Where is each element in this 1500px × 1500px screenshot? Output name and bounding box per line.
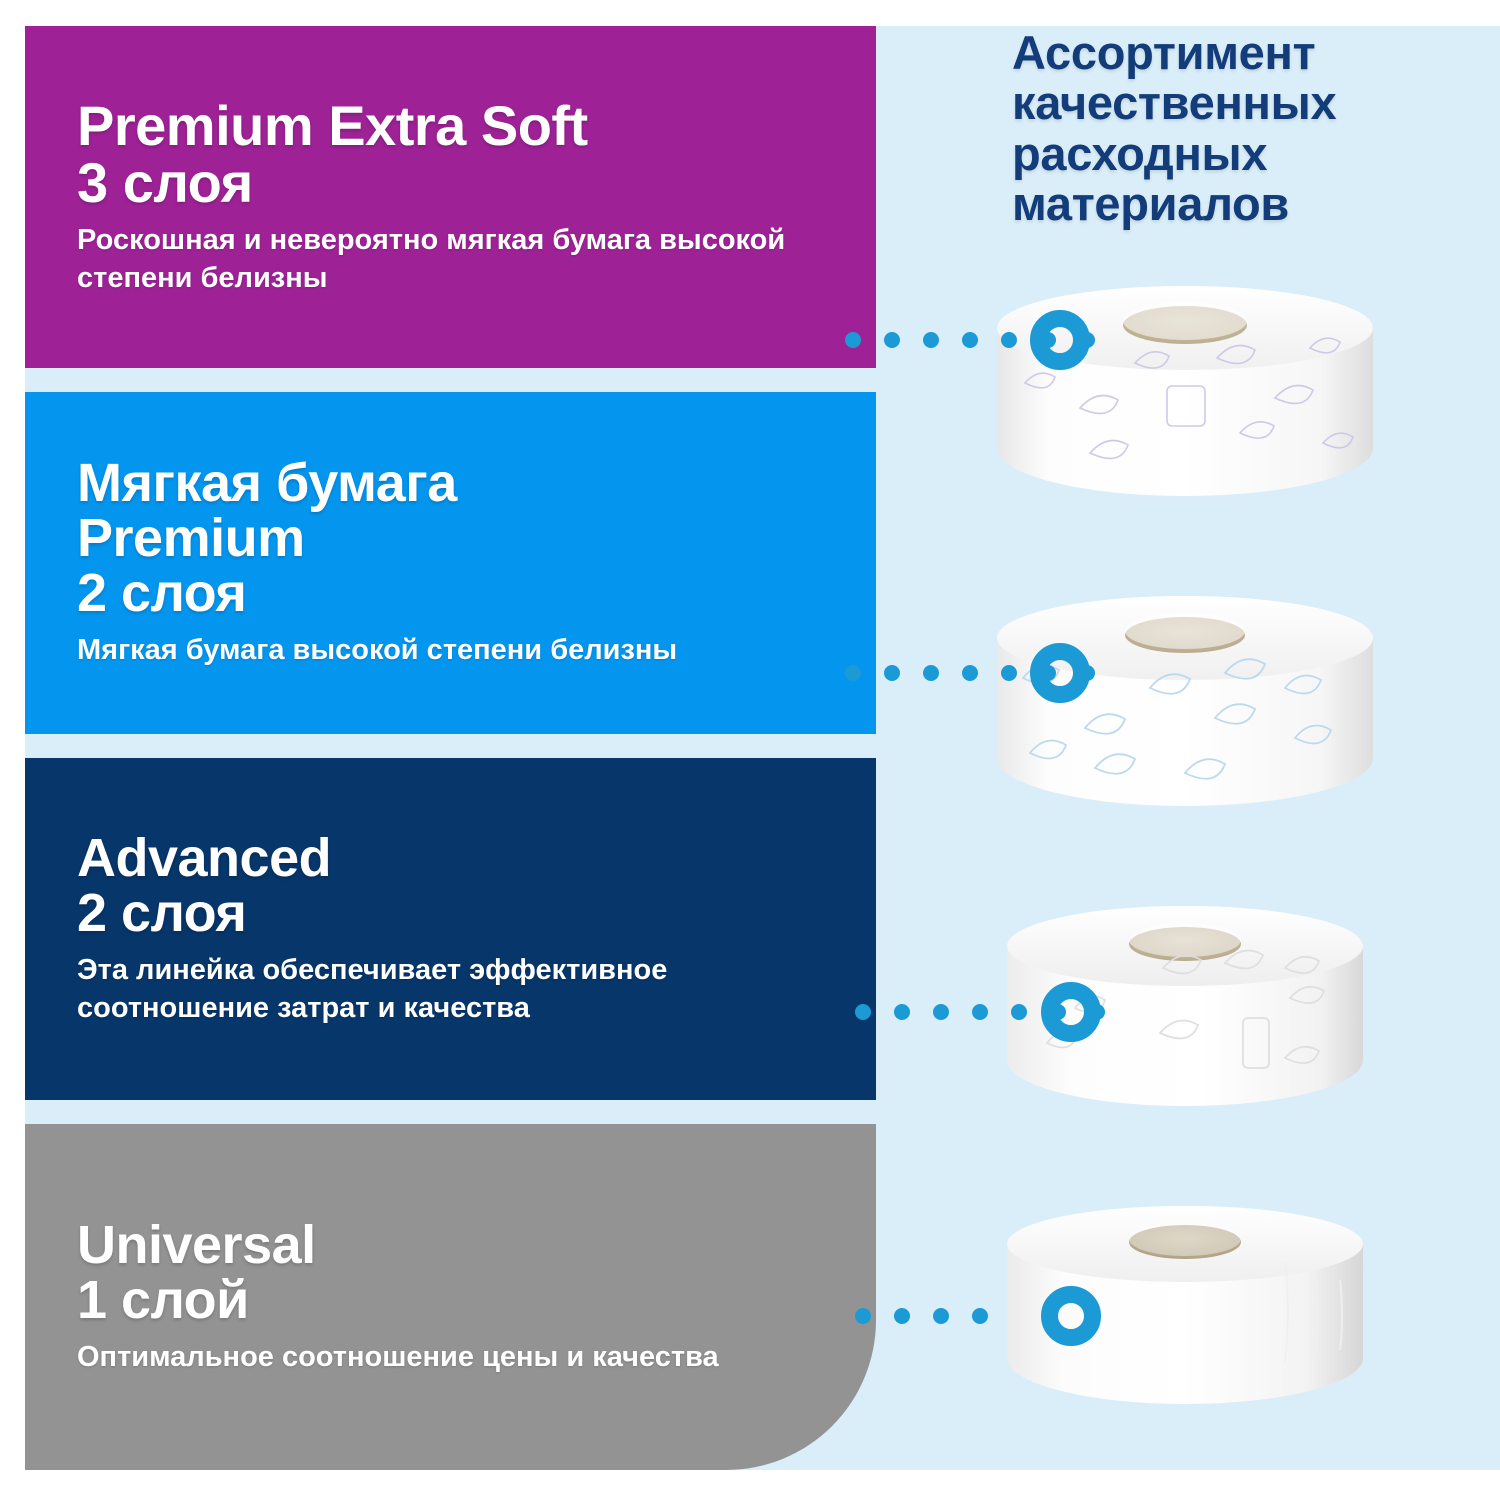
page-title-line3: расходных: [1012, 129, 1482, 179]
product-panel-premium-extra-soft[interactable]: Premium Extra Soft 3 слоя Роскошная и не…: [25, 26, 876, 368]
panel-title: Premium Extra Soft 3 слоя: [77, 97, 876, 211]
highlight-ring-icon-4: [1041, 1286, 1101, 1346]
connector-dot: [894, 1308, 910, 1324]
connector-dot: [845, 332, 861, 348]
highlight-ring-icon-2: [1030, 643, 1090, 703]
connector-dot: [1011, 1004, 1027, 1020]
connector-dot: [845, 665, 861, 681]
panel-title-line1: Advanced: [77, 831, 876, 886]
highlight-ring-icon-3: [1041, 982, 1101, 1042]
panel-title: Мягкая бумага Premium 2 слоя: [77, 456, 876, 621]
connector-dot: [962, 332, 978, 348]
connector-dot: [933, 1308, 949, 1324]
connector-dot: [894, 1004, 910, 1020]
panel-title-line1: Universal: [77, 1218, 876, 1273]
connector-dot: [972, 1308, 988, 1324]
product-panel-universal[interactable]: Universal 1 слой Оптимальное соотношение…: [25, 1124, 876, 1470]
panel-title: Advanced 2 слоя: [77, 831, 876, 941]
connector-dot: [1001, 665, 1017, 681]
panel-title-line2: Premium: [77, 511, 876, 566]
panel-title-line2: 3 слоя: [77, 154, 876, 211]
connector-dots-row-4: [855, 1308, 988, 1324]
connector-dot: [933, 1004, 949, 1020]
connector-dot: [923, 332, 939, 348]
page-title-line4: материалов: [1012, 179, 1482, 229]
highlight-ring-icon-1: [1030, 310, 1090, 370]
panel-title-line1: Мягкая бумага: [77, 456, 876, 511]
product-image-roll-premium: [985, 578, 1385, 828]
panel-title-line1: Premium Extra Soft: [77, 97, 876, 154]
panel-subtitle: Эта линейка обеспечивает эффективное соо…: [77, 951, 837, 1028]
panel-title-line2: 2 слоя: [77, 886, 876, 941]
panel-title: Universal 1 слой: [77, 1218, 876, 1328]
connector-dot: [884, 665, 900, 681]
connector-dot: [923, 665, 939, 681]
panel-title-line2: 1 слой: [77, 1273, 876, 1328]
connector-dot: [1001, 332, 1017, 348]
connector-dot: [962, 665, 978, 681]
product-image-roll-premium-extra-soft: [985, 268, 1385, 518]
connector-dot: [972, 1004, 988, 1020]
infographic-poster: Premium Extra Soft 3 слоя Роскошная и не…: [0, 0, 1500, 1500]
panel-subtitle: Мягкая бумага высокой степени белизны: [77, 631, 837, 669]
connector-dot: [855, 1004, 871, 1020]
panel-subtitle: Оптимальное соотношение цены и качества: [77, 1338, 837, 1376]
product-panel-myagkaya-bumaga-premium[interactable]: Мягкая бумага Premium 2 слоя Мягкая бума…: [25, 392, 876, 734]
page-title-line2: качественных: [1012, 78, 1482, 128]
product-panel-advanced[interactable]: Advanced 2 слоя Эта линейка обеспечивает…: [25, 758, 876, 1100]
page-title-line1: Ассортимент: [1012, 28, 1482, 78]
panel-title-line3: 2 слоя: [77, 566, 876, 621]
panel-subtitle: Роскошная и невероятно мягкая бумага выс…: [77, 221, 837, 298]
page-title: Ассортимент качественных расходных матер…: [1012, 28, 1482, 229]
connector-dot: [884, 332, 900, 348]
connector-dot: [855, 1308, 871, 1324]
